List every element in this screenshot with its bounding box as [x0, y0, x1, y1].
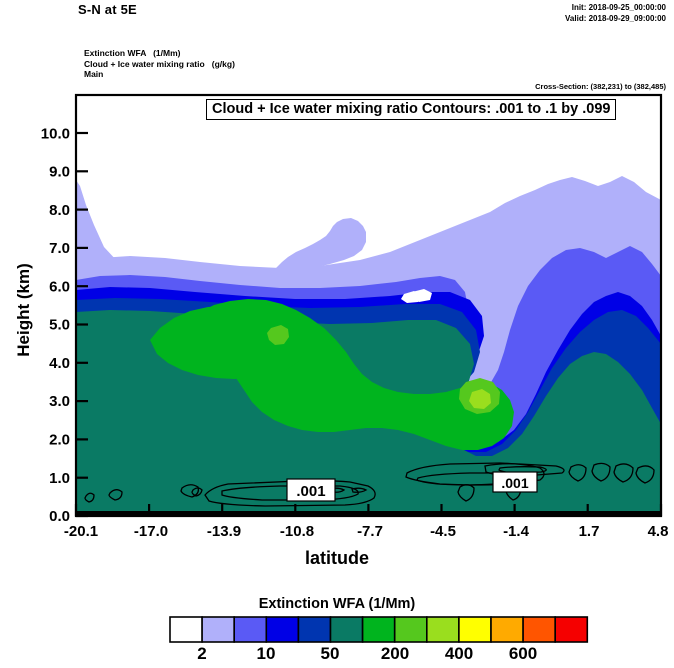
model-time-stamps: Init: 2018-09-25_00:00:00 Valid: 2018-09… [565, 2, 666, 24]
colorbar-tick-3: 200 [374, 644, 416, 664]
cross-section-coords: Cross-Section: (382,231) to (382,485) [535, 82, 666, 91]
colorbar-cell-12 [555, 617, 587, 642]
x-tick-5: -4.5 [430, 523, 456, 540]
colorbar-cell-11 [523, 617, 555, 642]
colorbar-cell-9 [459, 617, 491, 642]
init-time: Init: 2018-09-25_00:00:00 [565, 2, 666, 13]
x-tick-3: -10.8 [280, 523, 314, 540]
x-tick-0: -20.1 [64, 523, 98, 540]
colorbar-title: Extinction WFA (1/Mm) [0, 596, 674, 612]
x-tick-2: -13.9 [207, 523, 241, 540]
colorbar-cell-4 [298, 617, 330, 642]
colorbar-tick-1: 10 [251, 644, 281, 664]
x-tick-1: -17.0 [134, 523, 168, 540]
x-axis-title: latitude [0, 548, 674, 569]
colorbar-cell-10 [491, 617, 523, 642]
colorbar-cell-8 [427, 617, 459, 642]
y-tick-10: 10.0 [41, 126, 70, 143]
colorbar-cell-3 [266, 617, 298, 642]
x-tick-7: 1.7 [579, 523, 600, 540]
colorbar-cell-5 [331, 617, 363, 642]
y-tick-5: 5.0 [49, 317, 70, 334]
y-tick-9: 9.0 [49, 164, 70, 181]
colorbar-cell-6 [363, 617, 395, 642]
y-tick-1: 1.0 [49, 470, 70, 487]
y-axis-title: Height (km) [14, 245, 34, 375]
x-tick-4: -7.7 [357, 523, 383, 540]
colorbar-tick-5: 600 [502, 644, 544, 664]
colorbar-tick-2: 50 [315, 644, 345, 664]
y-tick-2: 2.0 [49, 432, 70, 449]
colorbar-cell-2 [234, 617, 266, 642]
colorbar-cell-1 [202, 617, 234, 642]
x-tick-labels: -20.1 -17.0 -13.9 -10.8 -7.7 -4.5 -1.4 1… [64, 523, 669, 540]
contour-label-1: .001 [296, 483, 325, 500]
variable-legend: Extinction WFA (1/Mm) Cloud + Ice water … [84, 48, 235, 80]
y-tick-6: 6.0 [49, 279, 70, 296]
y-tick-7: 7.0 [49, 240, 70, 257]
y-tick-3: 3.0 [49, 393, 70, 410]
valid-time: Valid: 2018-09-29_09:00:00 [565, 13, 666, 24]
x-tick-6: -1.4 [503, 523, 530, 540]
page-title: S-N at 5E [78, 2, 137, 17]
contour-banner: Cloud + Ice water mixing ratio Contours:… [206, 99, 616, 120]
colorbar-swatches [170, 617, 587, 642]
y-tick-8: 8.0 [49, 202, 70, 219]
colorbar-cell-7 [395, 617, 427, 642]
contour-label-2: .001 [501, 475, 528, 491]
y-tick-4: 4.0 [49, 355, 70, 372]
colorbar-tick-4: 400 [438, 644, 480, 664]
colorbar-cell-0 [170, 617, 202, 642]
colorbar-tick-0: 2 [187, 644, 217, 664]
y-tick-labels: 0.0 1.0 2.0 3.0 4.0 5.0 6.0 7.0 8.0 9.0 … [41, 126, 70, 526]
x-tick-8: 4.8 [648, 523, 669, 540]
